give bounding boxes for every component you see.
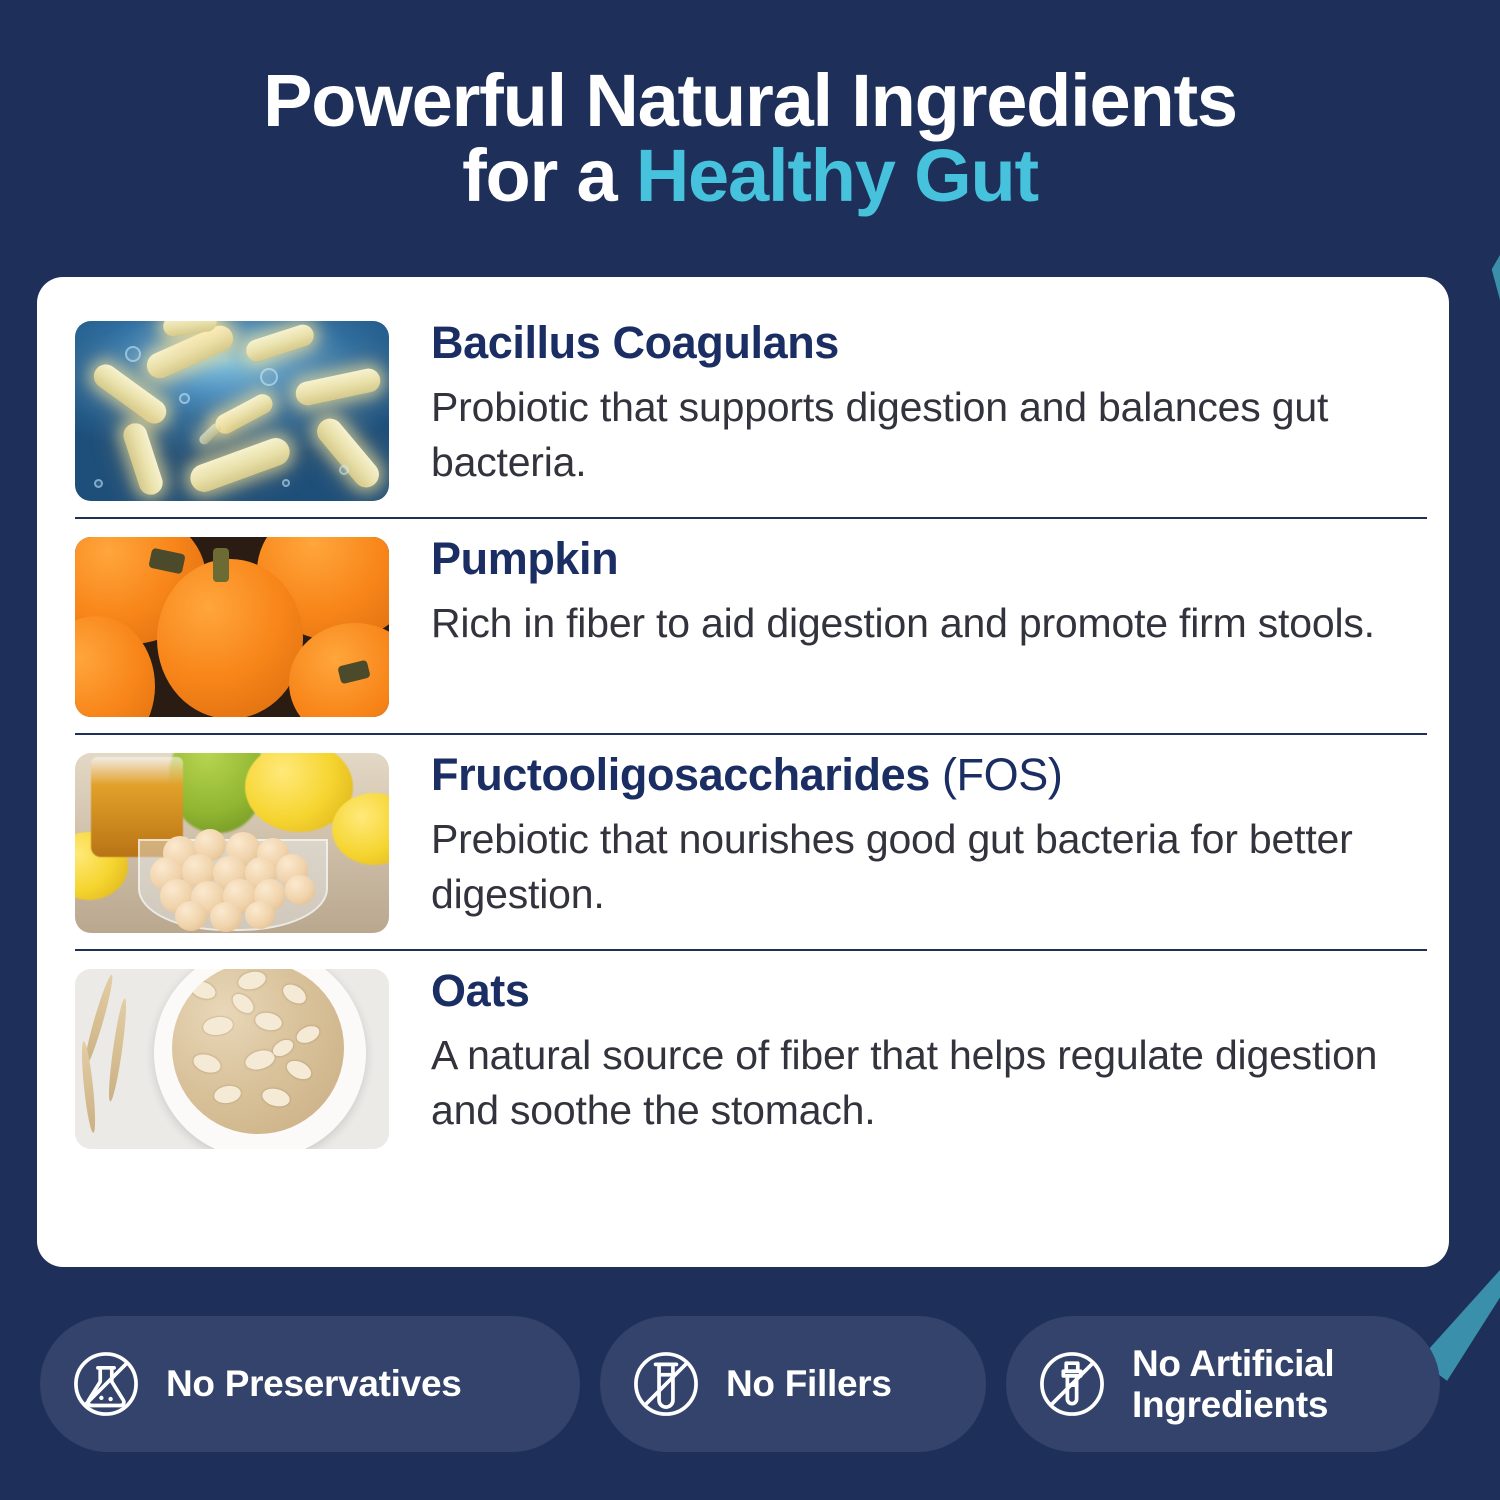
badge-label: No Preservatives xyxy=(166,1363,462,1404)
ingredient-text: Pumpkin Rich in fiber to aid digestion a… xyxy=(389,531,1419,651)
ingredient-title-main: Oats xyxy=(431,965,529,1016)
ingredient-title-main: Fructooligosaccharides xyxy=(431,749,930,800)
badge-no-preservatives: No Preservatives xyxy=(40,1316,580,1452)
pumpkin-image xyxy=(75,537,389,717)
ingredient-text: Oats A natural source of fiber that help… xyxy=(389,963,1419,1137)
oats-image xyxy=(75,969,389,1149)
ingredient-title-suffix: (FOS) xyxy=(930,749,1063,800)
ingredient-row: Fructooligosaccharides (FOS) Prebiotic t… xyxy=(37,735,1449,949)
no-flask-icon xyxy=(68,1346,144,1422)
ingredient-description: A natural source of fiber that helps reg… xyxy=(431,1028,1419,1138)
page-header: Powerful Natural Ingredients for a Healt… xyxy=(0,0,1500,270)
fructooligosaccharides-image xyxy=(75,753,389,933)
page-title-line-2: for a Healthy Gut xyxy=(462,138,1038,213)
claims-badge-row: No Preservatives No Fillers No xyxy=(40,1316,1460,1452)
ingredient-text: Bacillus Coagulans Probiotic that suppor… xyxy=(389,315,1419,489)
ingredient-title: Bacillus Coagulans xyxy=(431,319,1419,368)
badge-no-fillers: No Fillers xyxy=(600,1316,986,1452)
page-title-accent: Healthy Gut xyxy=(636,134,1038,217)
ingredient-description: Prebiotic that nourishes good gut bacter… xyxy=(431,812,1419,922)
ingredient-title: Fructooligosaccharides (FOS) xyxy=(431,751,1419,800)
ingredient-title: Pumpkin xyxy=(431,535,1419,584)
bacillus-coagulans-image xyxy=(75,321,389,501)
badge-no-artificial-ingredients: No Artificial Ingredients xyxy=(1006,1316,1440,1452)
ingredient-description: Probiotic that supports digestion and ba… xyxy=(431,380,1419,490)
ingredient-text: Fructooligosaccharides (FOS) Prebiotic t… xyxy=(389,747,1419,921)
no-dropper-icon xyxy=(1034,1346,1110,1422)
ingredients-card: Bacillus Coagulans Probiotic that suppor… xyxy=(37,277,1449,1267)
ingredient-title-main: Bacillus Coagulans xyxy=(431,317,839,368)
ingredient-title: Oats xyxy=(431,967,1419,1016)
ingredient-row: Pumpkin Rich in fiber to aid digestion a… xyxy=(37,519,1449,733)
ingredient-description: Rich in fiber to aid digestion and promo… xyxy=(431,596,1419,651)
badge-label: No Artificial Ingredients xyxy=(1132,1343,1334,1426)
ingredient-title-main: Pumpkin xyxy=(431,533,618,584)
ingredient-row: Bacillus Coagulans Probiotic that suppor… xyxy=(37,303,1449,517)
no-test-tube-icon xyxy=(628,1346,704,1422)
badge-label: No Fillers xyxy=(726,1363,892,1404)
page-title-line-1: Powerful Natural Ingredients xyxy=(263,63,1237,138)
page-title-prefix: for a xyxy=(462,134,636,217)
ingredient-row: Oats A natural source of fiber that help… xyxy=(37,951,1449,1165)
